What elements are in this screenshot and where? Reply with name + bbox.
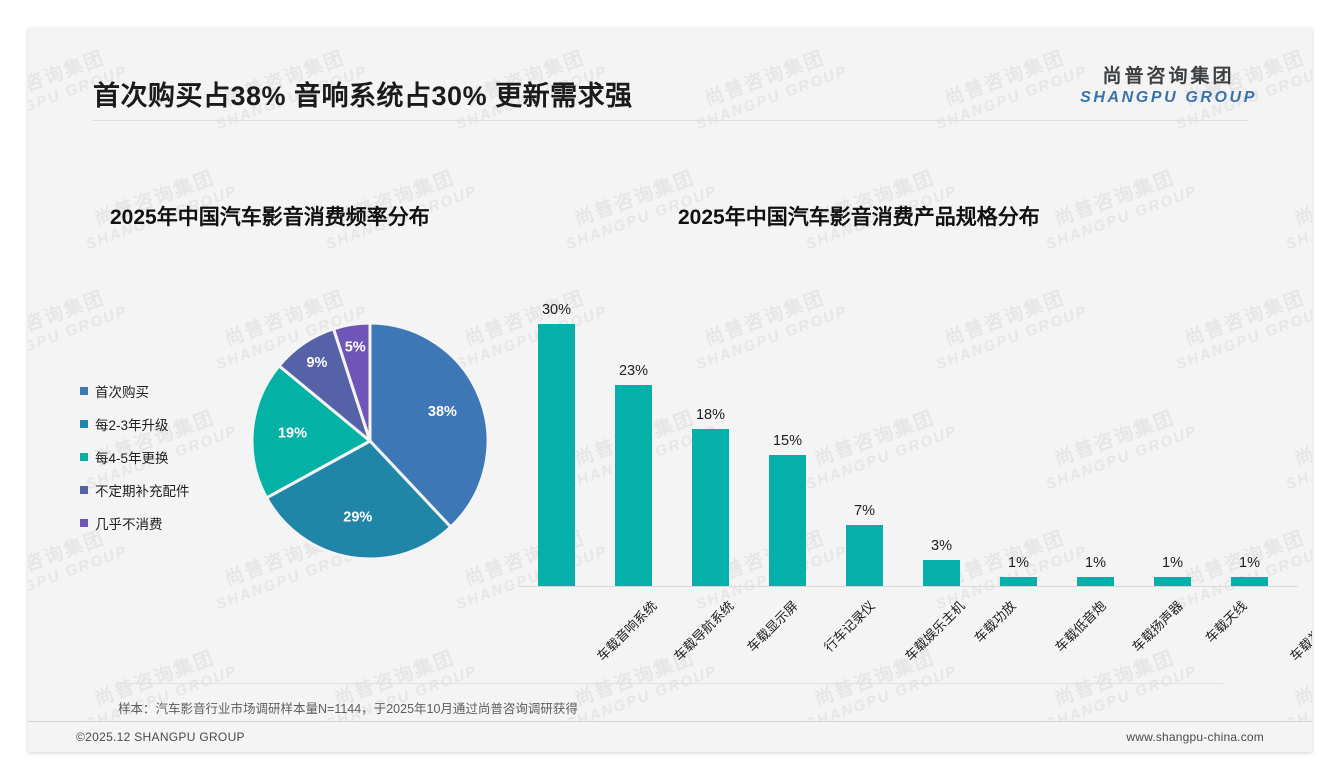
bar-rect[interactable] — [769, 455, 806, 586]
logo-chinese-text: 尚普咨询集团 — [1080, 61, 1257, 88]
bar-value-label: 23% — [619, 363, 648, 379]
bar-column[interactable]: 18% — [674, 286, 748, 586]
bar-column[interactable]: 15% — [751, 286, 825, 586]
bar-chart-title: 2025年中国汽车影音消费产品规格分布 — [678, 201, 1040, 231]
bar-value-label: 3% — [931, 538, 952, 554]
bar-rect[interactable] — [1231, 577, 1268, 586]
pie-chart-title: 2025年中国汽车影音消费频率分布 — [110, 201, 430, 231]
bar-axis-label: 车载功放 — [969, 596, 1019, 646]
pie-chart-legend: 首次购买每2-3年升级每4-5年更换不定期补充配件几乎不消费 — [80, 374, 255, 539]
bar-chart-plot: 30%23%18%15%7%3%1%1%1%1% — [518, 286, 1288, 586]
logo-english-text: SHANGPU GROUP — [1080, 89, 1257, 107]
bar-value-label: 7% — [854, 503, 875, 519]
brand-logo: 尚普咨询集团 SHANGPU GROUP — [1080, 61, 1257, 107]
bar-value-label: 18% — [696, 407, 725, 423]
legend-item-label: 每2-3年升级 — [95, 414, 169, 434]
bar-value-label: 1% — [1162, 555, 1183, 571]
bar-chart-axis-line — [518, 586, 1298, 587]
pie-slice-label: 29% — [343, 510, 372, 526]
pie-slice-label: 5% — [345, 340, 366, 356]
bar-rect[interactable] — [1000, 577, 1037, 586]
sample-note: 样本：汽车影音行业市场调研样本量N=1144，于2025年10月通过尚普咨询调研… — [118, 698, 578, 717]
slide-footer: ©2025.12 SHANGPU GROUP www.shangpu-china… — [28, 722, 1312, 752]
bar-rect[interactable] — [923, 560, 960, 586]
bar-rect[interactable] — [615, 385, 652, 586]
bar-chart: 30%23%18%15%7%3%1%1%1%1% 车载音响系统车载导航系统车载显… — [498, 266, 1298, 666]
footer-website: www.shangpu-china.com — [1126, 730, 1264, 744]
legend-item[interactable]: 每4-5年更换 — [80, 440, 255, 473]
bar-column[interactable]: 1% — [982, 286, 1056, 586]
bar-column[interactable]: 1% — [1213, 286, 1287, 586]
legend-item-label: 不定期补充配件 — [95, 480, 190, 500]
bar-rect[interactable] — [538, 324, 575, 586]
bar-column[interactable]: 1% — [1136, 286, 1210, 586]
legend-swatch-icon — [80, 486, 88, 494]
charts-area: 2025年中国汽车影音消费频率分布 2025年中国汽车影音消费产品规格分布 首次… — [28, 121, 1312, 681]
bar-column[interactable]: 3% — [905, 286, 979, 586]
header-divider — [93, 120, 1248, 121]
pie-chart: 38%29%19%9%5% — [250, 321, 490, 561]
bar-column[interactable]: 1% — [1059, 286, 1133, 586]
bar-axis-label: 车载音响系统 — [591, 596, 660, 665]
bar-column[interactable]: 30% — [520, 286, 594, 586]
slide-header: 首次购买占38% 音响系统占30% 更新需求强 尚普咨询集团 SHANGPU G… — [28, 28, 1312, 121]
legend-item-label: 每4-5年更换 — [95, 447, 169, 467]
bar-axis-label: 车载视频播… — [1284, 596, 1312, 665]
pie-slice-label: 38% — [428, 404, 457, 420]
legend-item[interactable]: 不定期补充配件 — [80, 473, 255, 506]
legend-swatch-icon — [80, 387, 88, 395]
bar-rect[interactable] — [692, 429, 729, 586]
bar-axis-label: 车载低音炮 — [1050, 596, 1109, 655]
bar-axis-label: 车载天线 — [1200, 596, 1250, 646]
legend-swatch-icon — [80, 453, 88, 461]
page-title: 首次购买占38% 音响系统占30% 更新需求强 — [93, 74, 633, 113]
bar-axis-label: 车载显示屏 — [742, 596, 801, 655]
legend-item[interactable]: 几乎不消费 — [80, 506, 255, 539]
bar-value-label: 1% — [1008, 555, 1029, 571]
bar-rect[interactable] — [846, 525, 883, 586]
bar-value-label: 15% — [773, 433, 802, 449]
bar-rect[interactable] — [1077, 577, 1114, 586]
legend-item[interactable]: 每2-3年升级 — [80, 407, 255, 440]
bar-rect[interactable] — [1154, 577, 1191, 586]
legend-item[interactable]: 首次购买 — [80, 374, 255, 407]
pie-slice-label: 19% — [278, 425, 307, 441]
legend-item-label: 几乎不消费 — [95, 513, 163, 533]
pie-chart-svg: 38%29%19%9%5% — [250, 321, 490, 561]
bar-value-label: 1% — [1239, 555, 1260, 571]
bar-value-label: 1% — [1085, 555, 1106, 571]
slide-canvas: 尚普咨询集团SHANGPU GROUP尚普咨询集团SHANGPU GROUP尚普… — [28, 28, 1312, 752]
bar-axis-label: 车载扬声器 — [1127, 596, 1186, 655]
footer-copyright: ©2025.12 SHANGPU GROUP — [76, 730, 245, 744]
bar-axis-label: 行车记录仪 — [819, 596, 878, 655]
bar-column[interactable]: 23% — [597, 286, 671, 586]
bar-value-label: 30% — [542, 302, 571, 318]
legend-swatch-icon — [80, 420, 88, 428]
legend-swatch-icon — [80, 519, 88, 527]
legend-item-label: 首次购买 — [95, 381, 149, 401]
bar-axis-label: 车载导航系统 — [668, 596, 737, 665]
footnote-divider — [118, 683, 1223, 684]
pie-slice-label: 9% — [306, 355, 327, 371]
bar-axis-label: 车载娱乐主机 — [899, 596, 968, 665]
bar-column[interactable]: 7% — [828, 286, 902, 586]
